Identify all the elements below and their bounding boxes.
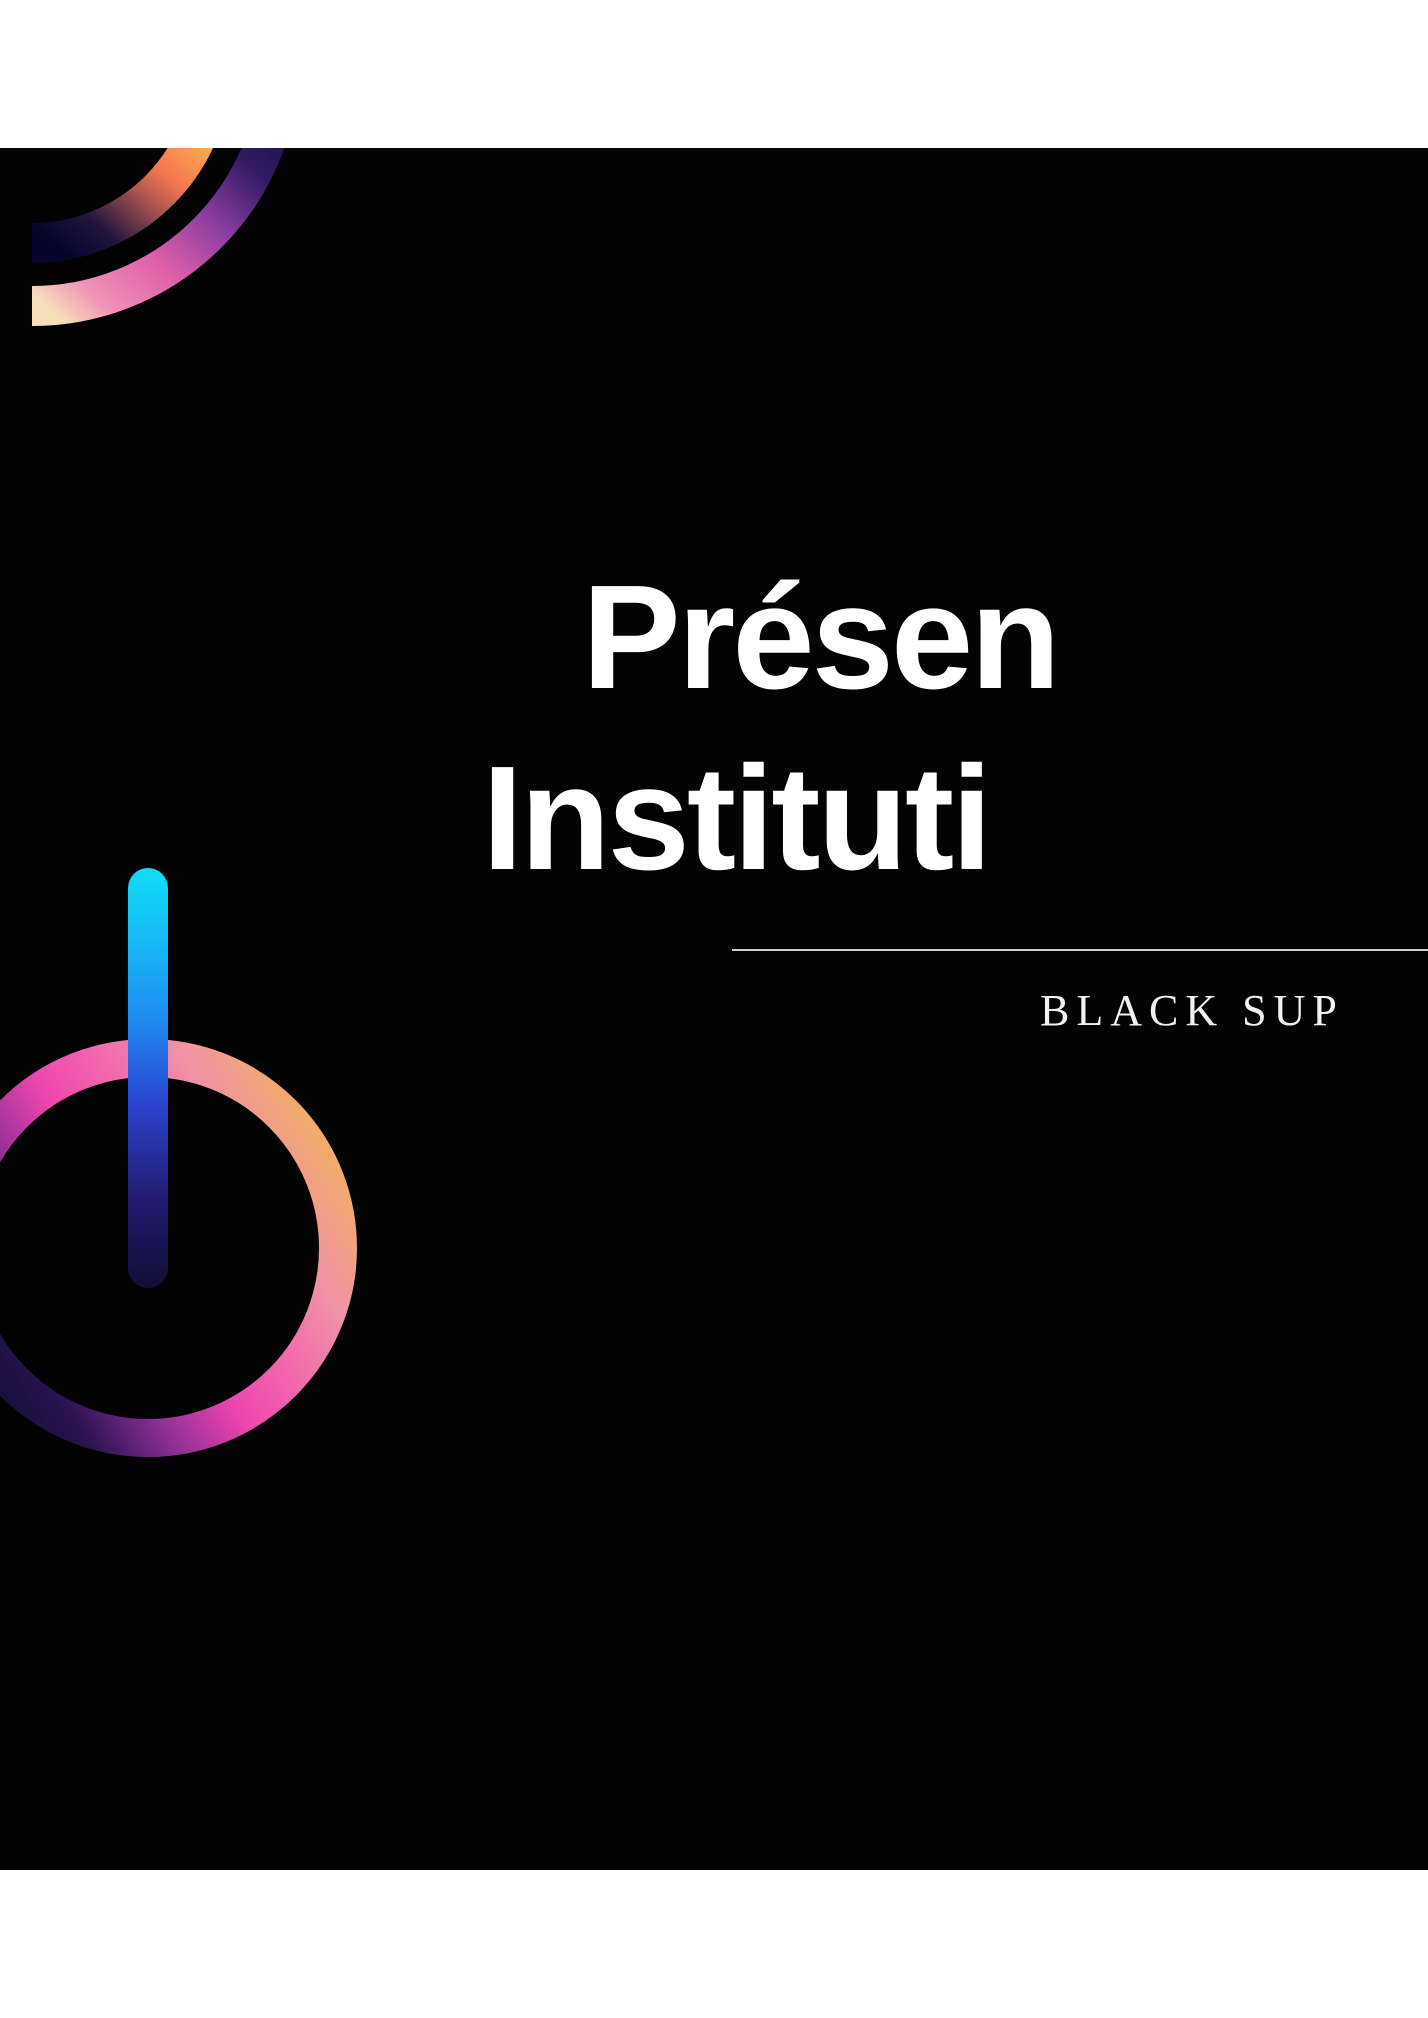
power-bar — [128, 868, 168, 1288]
slide-title-line-1: Présen — [470, 548, 1428, 729]
page-canvas: Présen Instituti BLACK SUP — [0, 0, 1428, 2018]
title-divider-rule — [732, 949, 1428, 951]
inner-arc-stroke — [32, 148, 212, 243]
slide-subtitle: BLACK SUP — [1040, 985, 1428, 1036]
power-symbol-decoration — [0, 858, 480, 1478]
outer-arc-stroke — [32, 148, 280, 306]
slide-canvas: Présen Instituti BLACK SUP — [0, 148, 1428, 1870]
power-ring — [0, 1058, 338, 1438]
gradient-arc-rings-decoration — [0, 148, 352, 468]
title-block: Présen Instituti BLACK SUP — [470, 548, 1428, 1036]
slide-title-line-2: Instituti — [470, 729, 1428, 910]
